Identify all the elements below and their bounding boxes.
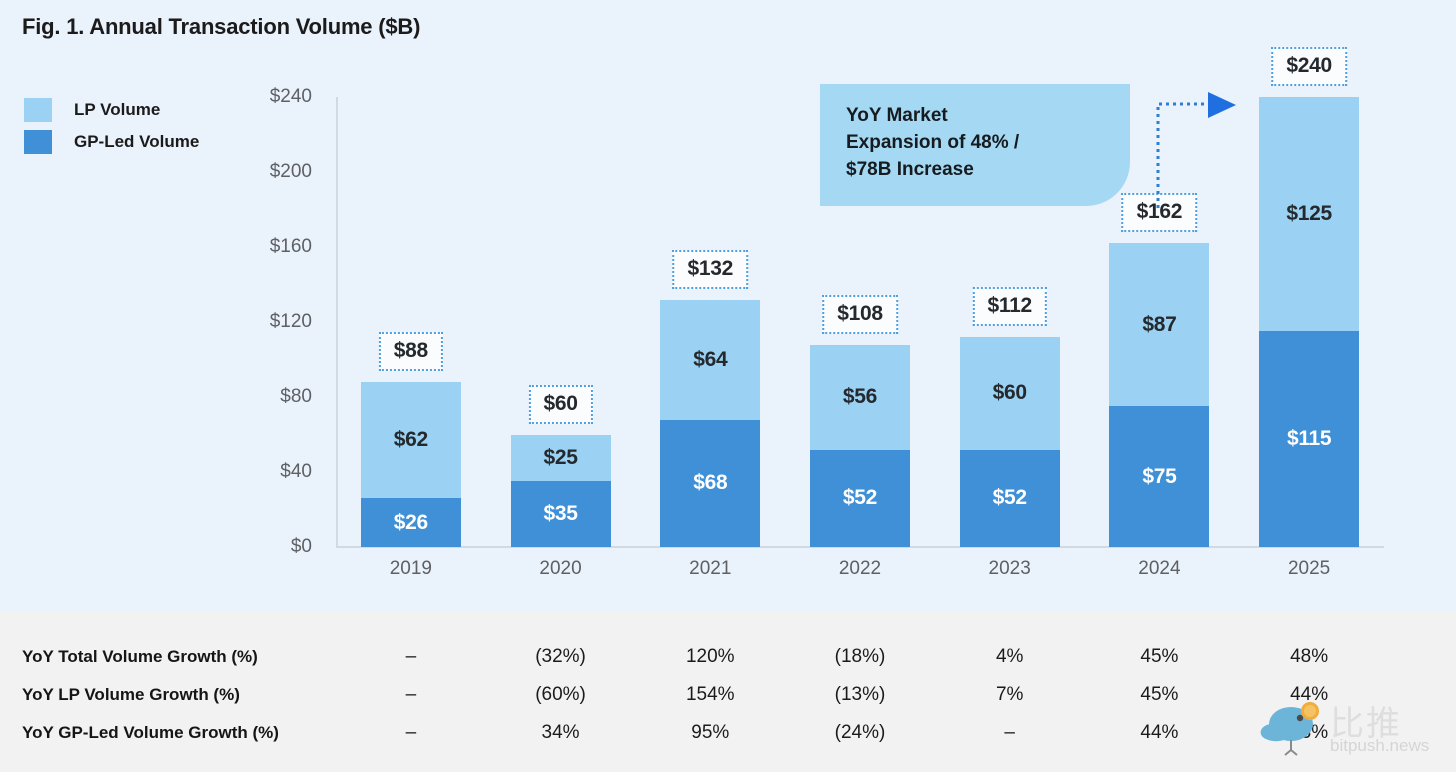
table-cell: 44% xyxy=(1234,676,1384,714)
callout-box: YoY Market Expansion of 48% / $78B Incre… xyxy=(820,84,1130,206)
bar-stack[interactable]: $62$26 xyxy=(361,382,461,547)
bar-total-label: $108 xyxy=(822,295,898,334)
x-axis-label: 2024 xyxy=(1085,558,1235,580)
bar-group: $64$68$1322021 xyxy=(635,97,785,547)
table-row: YoY GP-Led Volume Growth (%)–34%95%(24%)… xyxy=(0,714,1456,752)
bar-segment-lp[interactable]: $56 xyxy=(810,345,910,450)
table-row: YoY Total Volume Growth (%)–(32%)120%(18… xyxy=(0,638,1456,676)
bar-segment-gp[interactable]: $75 xyxy=(1109,406,1209,547)
bar-segment-lp-label: $56 xyxy=(843,385,877,409)
table-cell: 53% xyxy=(1234,714,1384,752)
y-axis-tick: $80 xyxy=(222,386,312,408)
table-cell: 4% xyxy=(935,638,1085,676)
table-row-label: YoY Total Volume Growth (%) xyxy=(22,638,258,676)
growth-table: YoY Total Volume Growth (%)–(32%)120%(18… xyxy=(0,612,1456,772)
bar-segment-gp[interactable]: $26 xyxy=(361,498,461,547)
bar-total-label: $112 xyxy=(973,287,1047,326)
y-axis-tick: $120 xyxy=(222,311,312,333)
table-row: YoY LP Volume Growth (%)–(60%)154%(13%)7… xyxy=(0,676,1456,714)
x-axis-label: 2020 xyxy=(486,558,636,580)
bar-stack[interactable]: $56$52 xyxy=(810,345,910,548)
y-axis-tick: $40 xyxy=(222,461,312,483)
bar-segment-lp-label: $87 xyxy=(1142,313,1176,337)
y-axis-tick: $200 xyxy=(222,161,312,183)
bar-stack[interactable]: $87$75 xyxy=(1109,243,1209,547)
legend-swatch-lp-icon xyxy=(24,98,52,122)
bar-segment-gp-label: $52 xyxy=(843,486,877,510)
bar-segment-lp[interactable]: $60 xyxy=(960,337,1060,450)
table-cell: – xyxy=(336,714,486,752)
legend-label-gp: GP-Led Volume xyxy=(74,132,199,152)
table-cell: (24%) xyxy=(785,714,935,752)
bar-segment-gp[interactable]: $115 xyxy=(1259,331,1359,547)
bar-segment-gp-label: $115 xyxy=(1287,427,1331,451)
y-axis-ticks: $240$200$160$120$80$40$0 xyxy=(222,0,312,612)
bar-stack[interactable]: $64$68 xyxy=(660,300,760,548)
table-cell: 45% xyxy=(1085,676,1235,714)
bar-segment-gp[interactable]: $68 xyxy=(660,420,760,548)
bar-total-label: $132 xyxy=(673,250,749,289)
x-axis-label: 2022 xyxy=(785,558,935,580)
bar-total-label: $60 xyxy=(528,385,592,424)
table-cell: 48% xyxy=(1234,638,1384,676)
table-row-label: YoY GP-Led Volume Growth (%) xyxy=(22,714,279,752)
bar-segment-lp[interactable]: $64 xyxy=(660,300,760,420)
bar-segment-lp-label: $64 xyxy=(693,348,727,372)
bar-segment-lp[interactable]: $125 xyxy=(1259,97,1359,331)
table-cell: – xyxy=(336,676,486,714)
bar-group: $125$115$2402025 xyxy=(1234,97,1384,547)
table-cell: 34% xyxy=(486,714,636,752)
x-axis-label: 2023 xyxy=(935,558,1085,580)
callout-arrow-icon xyxy=(1150,90,1240,210)
bar-segment-lp-label: $60 xyxy=(993,381,1027,405)
table-cell: 45% xyxy=(1085,638,1235,676)
bar-group: $62$26$882019 xyxy=(336,97,486,547)
bar-segment-lp-label: $125 xyxy=(1286,202,1332,226)
bar-group: $25$35$602020 xyxy=(486,97,636,547)
table-row-label: YoY LP Volume Growth (%) xyxy=(22,676,240,714)
table-cell: – xyxy=(935,714,1085,752)
bar-total-label: $240 xyxy=(1271,47,1347,86)
chart-panel: Fig. 1. Annual Transaction Volume ($B) L… xyxy=(0,0,1456,612)
callout-text: YoY Market Expansion of 48% / $78B Incre… xyxy=(846,102,1116,183)
bar-segment-gp-label: $68 xyxy=(693,471,727,495)
bar-stack[interactable]: $60$52 xyxy=(960,337,1060,547)
legend-swatch-gp-icon xyxy=(24,130,52,154)
y-axis-tick: $240 xyxy=(222,86,312,108)
table-cell: 7% xyxy=(935,676,1085,714)
table-cell: (60%) xyxy=(486,676,636,714)
bar-segment-lp-label: $25 xyxy=(543,446,577,470)
bar-segment-gp[interactable]: $35 xyxy=(511,481,611,547)
bar-segment-lp[interactable]: $62 xyxy=(361,382,461,498)
bar-segment-gp-label: $26 xyxy=(394,511,428,535)
y-axis-tick: $0 xyxy=(222,536,312,558)
table-cell: 154% xyxy=(635,676,785,714)
x-axis-label: 2021 xyxy=(635,558,785,580)
bar-segment-gp[interactable]: $52 xyxy=(960,450,1060,548)
table-cell: – xyxy=(336,638,486,676)
bar-segment-gp-label: $75 xyxy=(1142,465,1176,489)
bar-segment-gp-label: $52 xyxy=(993,486,1027,510)
bar-segment-gp-label: $35 xyxy=(543,502,577,526)
bar-segment-lp[interactable]: $25 xyxy=(511,435,611,482)
bar-stack[interactable]: $125$115 xyxy=(1259,97,1359,547)
table-cell: 95% xyxy=(635,714,785,752)
table-cell: (13%) xyxy=(785,676,935,714)
x-axis-label: 2025 xyxy=(1234,558,1384,580)
bar-total-label: $88 xyxy=(379,332,443,371)
table-cell: (18%) xyxy=(785,638,935,676)
bar-segment-gp[interactable]: $52 xyxy=(810,450,910,548)
y-axis-tick: $160 xyxy=(222,236,312,258)
table-cell: (32%) xyxy=(486,638,636,676)
table-cell: 120% xyxy=(635,638,785,676)
bar-stack[interactable]: $25$35 xyxy=(511,435,611,548)
x-axis-label: 2019 xyxy=(336,558,486,580)
table-cell: 44% xyxy=(1085,714,1235,752)
legend-label-lp: LP Volume xyxy=(74,100,160,120)
bar-segment-lp[interactable]: $87 xyxy=(1109,243,1209,406)
bar-segment-lp-label: $62 xyxy=(394,428,428,452)
